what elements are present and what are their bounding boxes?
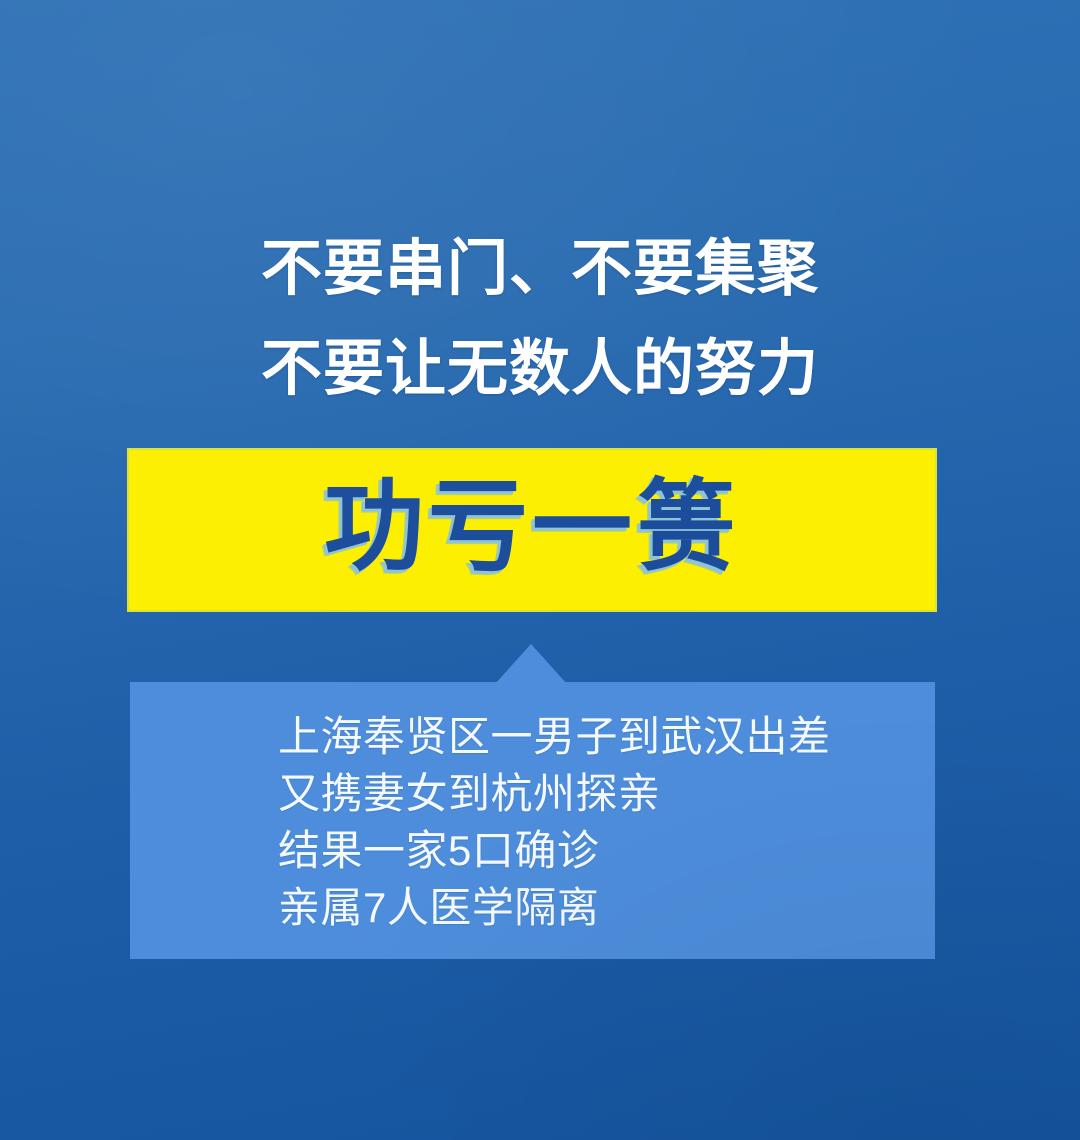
triangle-up-icon: [495, 644, 567, 684]
info-line: 又携妻女到杭州探亲: [278, 765, 918, 822]
info-line: 结果一家5口确诊: [278, 822, 918, 879]
info-text-block: 上海奉贤区一男子到武汉出差 又携妻女到杭州探亲 结果一家5口确诊 亲属7人医学隔…: [278, 708, 918, 936]
info-line: 亲属7人医学隔离: [278, 879, 918, 936]
highlight-banner: 功亏一篑: [129, 450, 935, 610]
headline-line-2: 不要让无数人的努力: [0, 338, 1080, 399]
headline-line-1: 不要串门、不要集聚: [0, 238, 1080, 299]
banner-slogan-text: 功亏一篑: [324, 477, 740, 577]
info-callout-box: 上海奉贤区一男子到武汉出差 又携妻女到杭州探亲 结果一家5口确诊 亲属7人医学隔…: [130, 682, 935, 959]
poster-canvas: 不要串门、不要集聚 不要让无数人的努力 功亏一篑 上海奉贤区一男子到武汉出差 又…: [0, 0, 1080, 1140]
info-line: 上海奉贤区一男子到武汉出差: [278, 708, 918, 765]
